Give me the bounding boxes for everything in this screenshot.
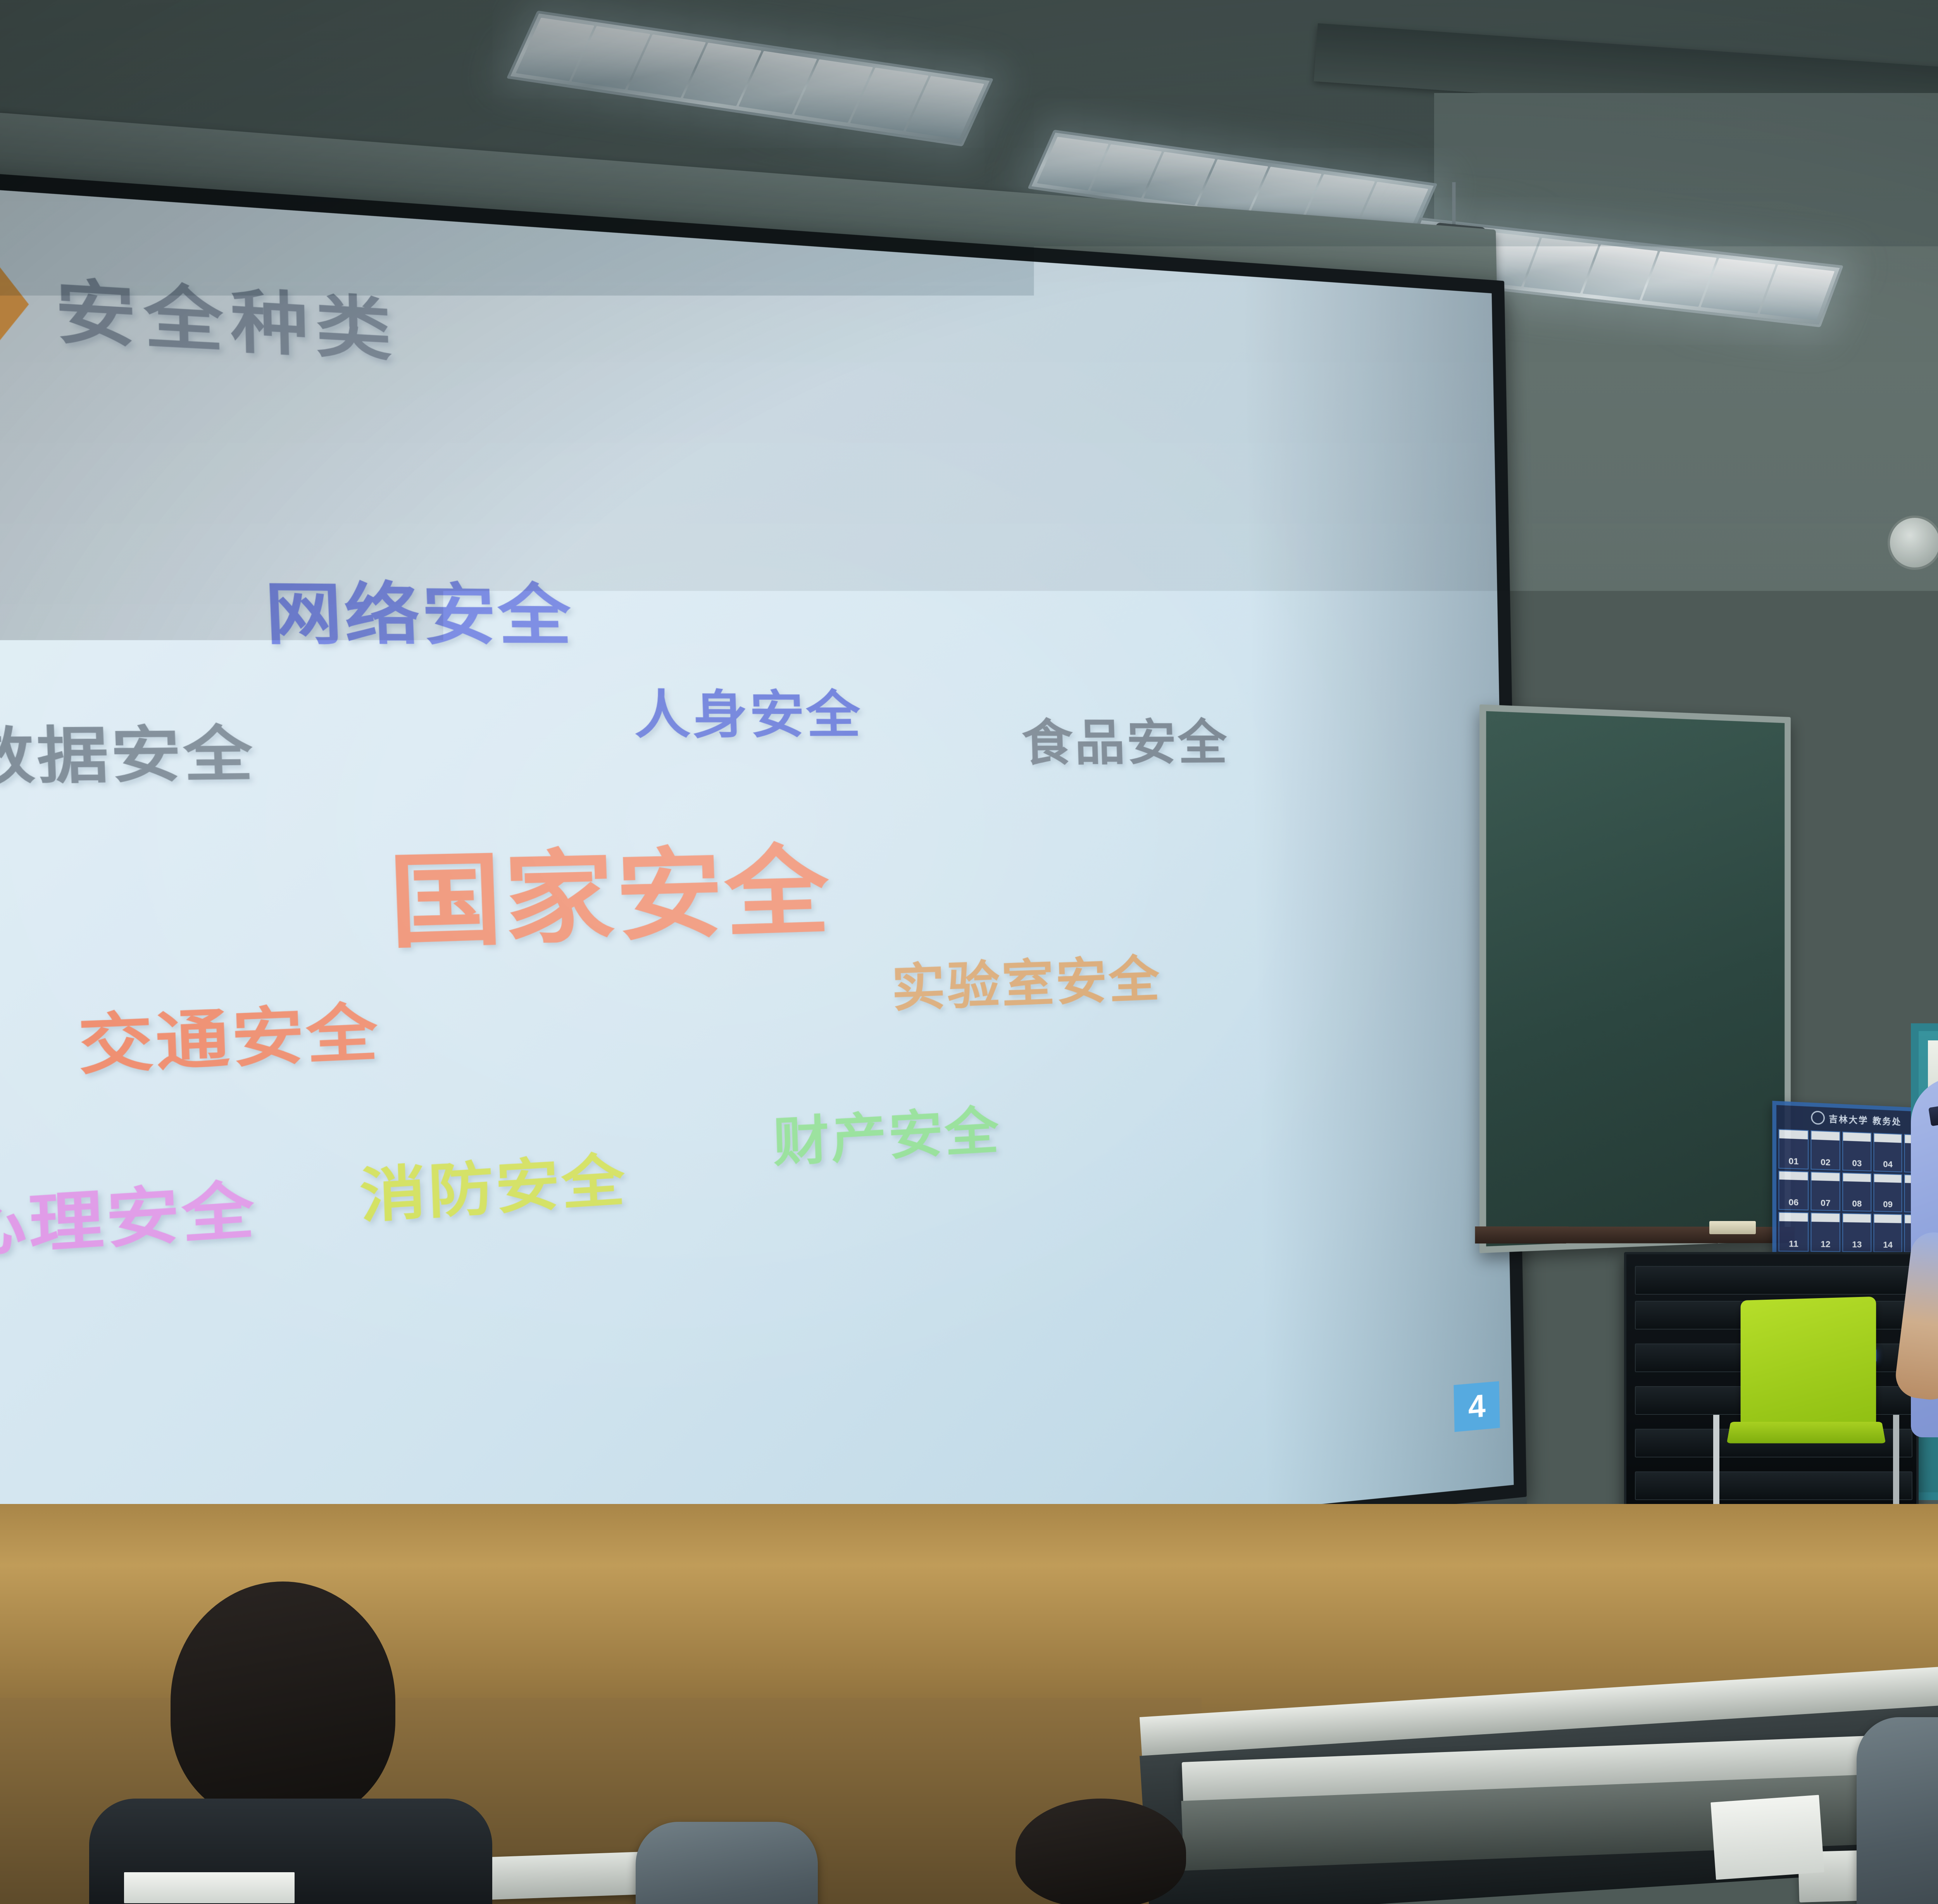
- word-cloud-item: 交通安全: [76, 982, 381, 1087]
- pocket-cell[interactable]: 03: [1842, 1131, 1871, 1171]
- wall-clock: [1888, 516, 1938, 570]
- word-cloud-item: 国家安全: [386, 812, 833, 968]
- paper-sheet: [1710, 1795, 1824, 1880]
- word-cloud-item: 心理安全: [0, 1159, 258, 1271]
- audience-head: [1016, 1799, 1186, 1904]
- word-cloud-item: 实验室安全: [890, 938, 1162, 1022]
- audience-head-foreground: [171, 1581, 395, 1822]
- slide-surface: 安全种类 网络安全数据安全人身安全食品安全国家安全实验室安全交通安全心理安全消防…: [0, 181, 1514, 1645]
- pocket-cell[interactable]: 13: [1842, 1213, 1871, 1252]
- university-seal-icon: [1811, 1111, 1825, 1125]
- word-cloud-item: 消防安全: [358, 1133, 628, 1235]
- pocket-cell[interactable]: 01: [1778, 1129, 1809, 1169]
- word-cloud-item: 数据安全: [0, 705, 256, 797]
- paper-sheet: [124, 1872, 295, 1903]
- screen-frame: 安全种类 网络安全数据安全人身安全食品安全国家安全实验室安全交通安全心理安全消防…: [0, 164, 1527, 1663]
- word-cloud-item: 网络安全: [263, 559, 574, 658]
- audience-seat[interactable]: [636, 1822, 818, 1904]
- word-cloud: 网络安全数据安全人身安全食品安全国家安全实验室安全交通安全心理安全消防安全财产安…: [0, 181, 1514, 1645]
- blackboard-eraser: [1709, 1221, 1756, 1234]
- word-cloud-item: 财产安全: [772, 1088, 1001, 1177]
- pocket-cell[interactable]: 12: [1810, 1212, 1840, 1252]
- pocket-cell[interactable]: 11: [1778, 1212, 1809, 1252]
- lecture-hall-photo: 安全种类 网络安全数据安全人身安全食品安全国家安全实验室安全交通安全心理安全消防…: [0, 0, 1938, 1904]
- audience-seat[interactable]: [1857, 1717, 1938, 1904]
- pocket-cell[interactable]: 08: [1842, 1172, 1871, 1212]
- pocket-cell[interactable]: 02: [1810, 1130, 1840, 1170]
- officer-left-arm: [1893, 1230, 1938, 1402]
- blackboard: [1479, 704, 1791, 1253]
- slide-page-number: 4: [1453, 1381, 1500, 1432]
- pocket-board-header-text: 吉林大学 教务处: [1829, 1112, 1902, 1128]
- pocket-cell[interactable]: 06: [1778, 1171, 1809, 1211]
- word-cloud-item: 人身安全: [633, 672, 863, 748]
- pocket-cell[interactable]: 07: [1810, 1171, 1840, 1211]
- word-cloud-item: 食品安全: [1021, 702, 1229, 775]
- chair-back: [1741, 1297, 1876, 1429]
